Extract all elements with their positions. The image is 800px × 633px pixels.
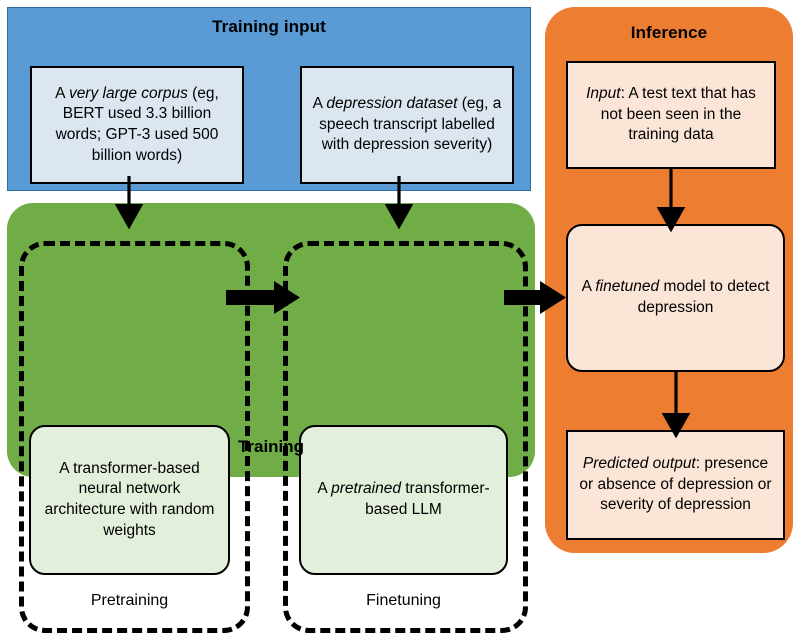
arrow-architecture-to-llm — [226, 281, 300, 314]
arrow-llm-to-model — [504, 281, 566, 314]
stage-label-pretraining: Pretraining — [29, 592, 230, 610]
arrow-layer — [0, 0, 800, 561]
diagram-canvas: Training input A very large corpus (eg, … — [0, 0, 800, 561]
stage-label-finetuning: Finetuning — [299, 592, 508, 610]
